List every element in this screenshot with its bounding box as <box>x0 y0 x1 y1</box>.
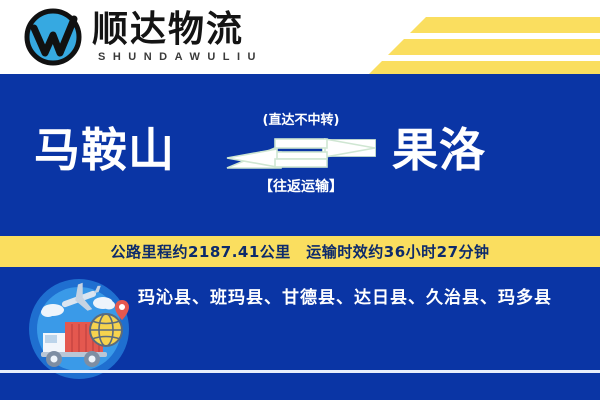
truck-plane-globe-logistics-icon <box>27 277 131 381</box>
banner-header: 顺达物流 SHUNDAWULIU <box>0 0 600 74</box>
round-trip-note: 【往返运输】 <box>225 178 377 196</box>
yellow-speed-stripes-icon <box>300 0 600 74</box>
bottom-divider <box>0 370 600 373</box>
brand-name-cn: 顺达物流 <box>92 10 263 50</box>
brand-logo: 顺达物流 SHUNDAWULIU <box>22 6 263 68</box>
origin-city: 马鞍山 <box>34 124 175 176</box>
distance-duration-bar: 公路里程约2187.41公里 运输时效约36小时27分钟 <box>0 236 600 267</box>
destination-city: 果洛 <box>392 124 486 176</box>
brand-name-en: SHUNDAWULIU <box>92 50 263 64</box>
circle-wave-logo-icon <box>22 6 84 68</box>
distance-duration-text: 公路里程约2187.41公里 运输时效约36小时27分钟 <box>110 241 489 262</box>
bidirectional-arrow-icon <box>225 138 377 172</box>
covered-counties-text: 玛沁县、班玛县、甘德县、达日县、久治县、玛多县 <box>138 283 552 308</box>
coverage-panel: 玛沁县、班玛县、甘德县、达日县、久治县、玛多县 <box>0 267 600 400</box>
route-center-group: (直达不中转) 【往返运输】 <box>225 112 377 220</box>
logistics-route-banner: 顺达物流 SHUNDAWULIU 马鞍山 果洛 (直达不中转) 【往返运输】 <box>0 0 600 400</box>
direct-service-note: (直达不中转) <box>225 112 377 130</box>
covered-counties: 玛沁县、班玛县、甘德县、达日县、久治县、玛多县 <box>138 275 578 315</box>
